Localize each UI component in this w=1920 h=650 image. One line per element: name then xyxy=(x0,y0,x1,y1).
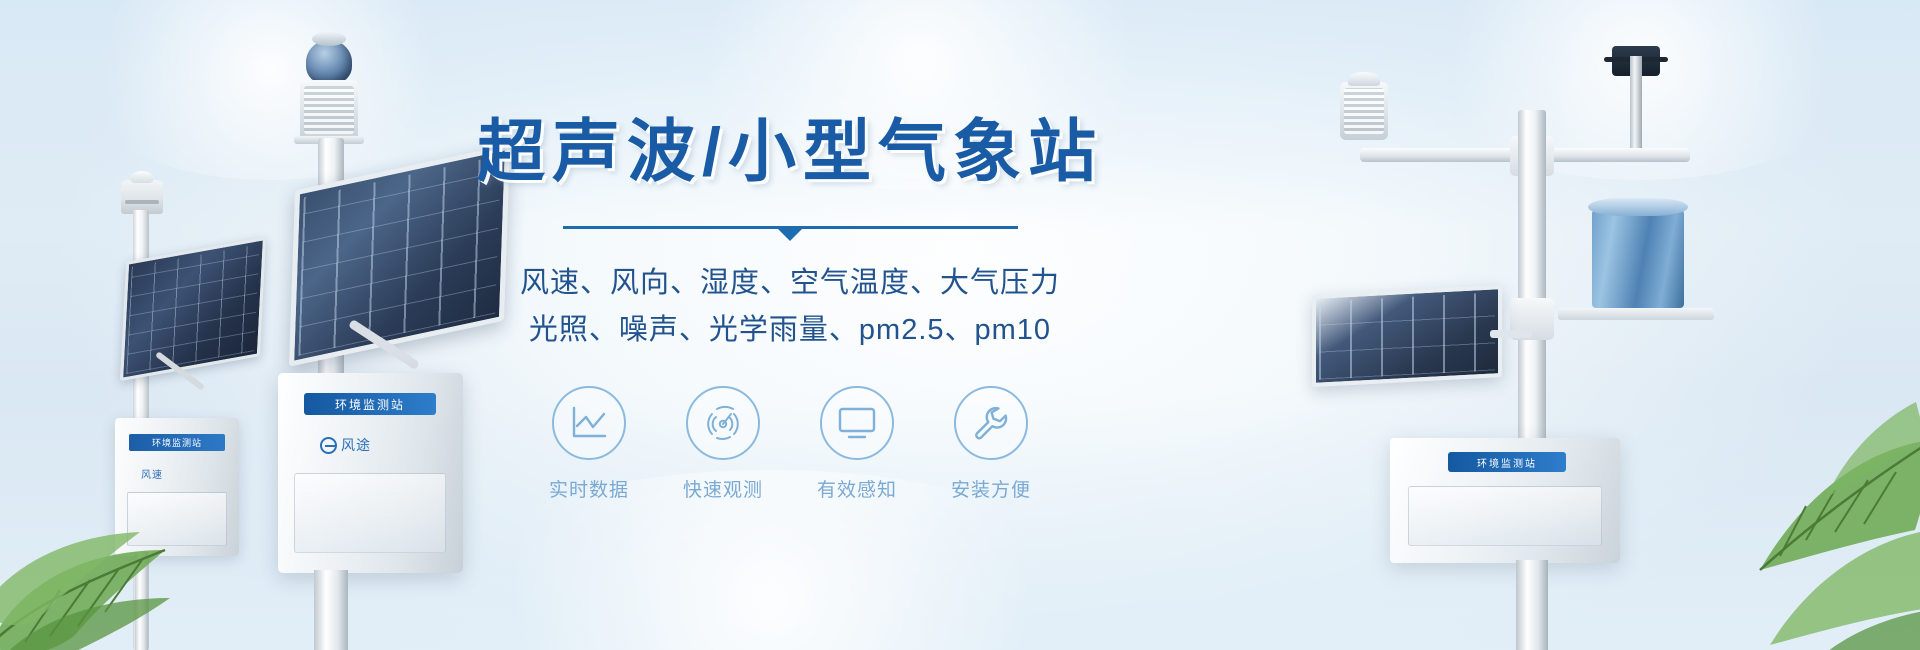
feature-item-effective-sensing[interactable]: 有效感知 xyxy=(812,386,902,502)
weather-station-left-small: 环境监测站 风速 xyxy=(105,180,285,650)
station-base-pole xyxy=(314,570,348,650)
cabinet-brand-label: 风速 xyxy=(141,466,163,481)
cabinet-tag-label: 环境监测站 xyxy=(304,393,436,415)
product-banner: 环境监测站 风速 环境监测站 风途 xyxy=(0,0,1920,650)
panel-arm xyxy=(1490,330,1532,338)
station-lower-mast xyxy=(135,552,148,650)
brand-name-label: 风途 xyxy=(341,435,371,455)
weather-station-right: 环境监测站 xyxy=(1340,40,1760,650)
control-cabinet: 环境监测站 风途 xyxy=(278,373,463,573)
cabinet-brand-label: 风途 xyxy=(320,435,371,455)
title-divider xyxy=(563,226,1018,240)
rain-gauge-icon xyxy=(1592,208,1684,308)
cabinet-door xyxy=(127,492,227,546)
feature-item-fast-observation[interactable]: 快速观测 xyxy=(678,386,768,502)
monitor-screen-icon xyxy=(820,386,894,460)
radiation-shield-sensor xyxy=(1340,82,1388,140)
line-chart-icon xyxy=(552,386,626,460)
banner-content: 超声波/小型气象站 风速、风向、湿度、空气温度、大气压力 光照、噪声、光学雨量、… xyxy=(440,0,1140,650)
feature-label: 有效感知 xyxy=(817,475,897,502)
control-cabinet: 环境监测站 风速 xyxy=(115,418,239,556)
solar-panel xyxy=(1312,285,1502,387)
brand-mark-icon xyxy=(320,437,337,454)
radar-scan-icon xyxy=(686,386,760,460)
control-cabinet: 环境监测站 xyxy=(1390,438,1620,563)
feature-label: 实时数据 xyxy=(549,475,629,502)
ultrasonic-sensor-head xyxy=(121,180,163,214)
feature-label: 安装方便 xyxy=(951,475,1031,502)
station-base-pole xyxy=(1516,560,1548,650)
cabinet-door xyxy=(1408,486,1602,546)
feature-label: 快速观测 xyxy=(683,475,763,502)
feature-item-realtime-data[interactable]: 实时数据 xyxy=(544,386,634,502)
solar-panel xyxy=(120,237,266,381)
equipment-shelf xyxy=(1558,308,1714,320)
subtitle-line-2: 光照、噪声、光学雨量、pm2.5、pm10 xyxy=(520,307,1060,354)
banner-subtitle: 风速、风向、湿度、空气温度、大气压力 光照、噪声、光学雨量、pm2.5、pm10 xyxy=(520,260,1060,354)
radiation-shield-sensor xyxy=(300,80,358,142)
subtitle-line-1: 风速、风向、湿度、空气温度、大气压力 xyxy=(520,260,1060,307)
cabinet-tag-label: 环境监测站 xyxy=(1448,452,1566,472)
feature-item-easy-installation[interactable]: 安装方便 xyxy=(946,386,1036,502)
triangle-down-icon xyxy=(777,228,803,241)
feature-list: 实时数据 快速观测 xyxy=(544,386,1036,502)
wrench-icon xyxy=(954,386,1028,460)
wind-vane-stem xyxy=(1630,56,1642,148)
cabinet-door xyxy=(294,473,446,553)
banner-title: 超声波/小型气象站 xyxy=(477,118,1103,186)
cabinet-tag-label: 环境监测站 xyxy=(129,434,225,451)
total-radiation-dome-icon xyxy=(306,40,352,84)
